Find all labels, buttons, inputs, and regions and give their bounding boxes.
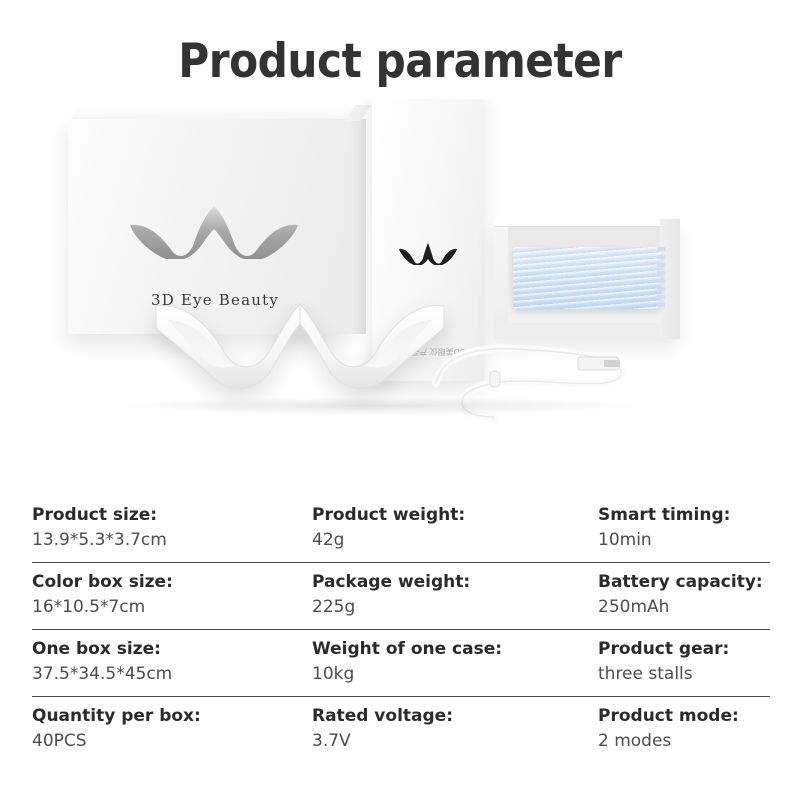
spec-value: 250mAh <box>598 595 770 621</box>
spec-cell: Quantity per box: 40PCS <box>32 704 312 754</box>
spec-value: 13.9*5.3*3.7cm <box>32 528 312 554</box>
spec-value: 225g <box>312 595 598 621</box>
spec-value: 42g <box>312 528 598 554</box>
spec-cell: Smart timing: 10min <box>598 503 770 553</box>
spec-cell: One box size: 37.5*34.5*45cm <box>32 637 312 687</box>
spec-value: 3.7V <box>312 729 598 755</box>
spec-label: Weight of one case: <box>312 637 598 662</box>
eye-massager-device <box>150 294 450 404</box>
table-row: Quantity per box: 40PCS Rated voltage: 3… <box>32 697 770 763</box>
spec-cell: Weight of one case: 10kg <box>312 637 598 687</box>
table-row: Product size: 13.9*5.3*3.7cm Product wei… <box>32 496 770 563</box>
spec-cell: Battery capacity: 250mAh <box>598 570 770 620</box>
spec-value: 16*10.5*7cm <box>32 595 312 621</box>
spec-label: Product mode: <box>598 704 770 729</box>
spec-label: Product size: <box>32 503 312 528</box>
product-photo: 3D Eye Beauty 3D美眼仪 产品手册 <box>0 99 800 499</box>
spec-value: 37.5*34.5*45cm <box>32 662 312 688</box>
spec-cell: Product gear: three stalls <box>598 637 770 687</box>
spec-cell: Package weight: 225g <box>312 570 598 620</box>
spec-label: Quantity per box: <box>32 704 312 729</box>
spec-value: three stalls <box>598 662 770 688</box>
ground-shadow <box>120 397 640 415</box>
spec-label: Product gear: <box>598 637 770 662</box>
spec-label: Product weight: <box>312 503 598 528</box>
spec-value: 10kg <box>312 662 598 688</box>
spec-label: Smart timing: <box>598 503 770 528</box>
spec-cell: Product size: 13.9*5.3*3.7cm <box>32 503 312 553</box>
table-row: Color box size: 16*10.5*7cm Package weig… <box>32 563 770 630</box>
spec-value: 10min <box>598 528 770 554</box>
spec-label: One box size: <box>32 637 312 662</box>
spec-label: Battery capacity: <box>598 570 770 595</box>
spec-cell: Product mode: 2 modes <box>598 704 770 754</box>
spec-label: Package weight: <box>312 570 598 595</box>
spec-cell: Product weight: 42g <box>312 503 598 553</box>
page-title: Product parameter <box>0 0 800 85</box>
spec-value: 40PCS <box>32 729 312 755</box>
eye-mask-graphic-black <box>398 239 458 265</box>
spec-label: Color box size: <box>32 570 312 595</box>
spec-value: 2 modes <box>598 729 770 755</box>
spec-cell: Color box size: 16*10.5*7cm <box>32 570 312 620</box>
table-row: One box size: 37.5*34.5*45cm Weight of o… <box>32 630 770 697</box>
microfiber-cleaning-cloth <box>513 247 661 309</box>
tray-rim <box>494 217 678 227</box>
eye-mask-graphic-silver <box>128 197 300 259</box>
spec-cell: Rated voltage: 3.7V <box>312 704 598 754</box>
spec-table: Product size: 13.9*5.3*3.7cm Product wei… <box>32 496 770 764</box>
spec-label: Rated voltage: <box>312 704 598 729</box>
